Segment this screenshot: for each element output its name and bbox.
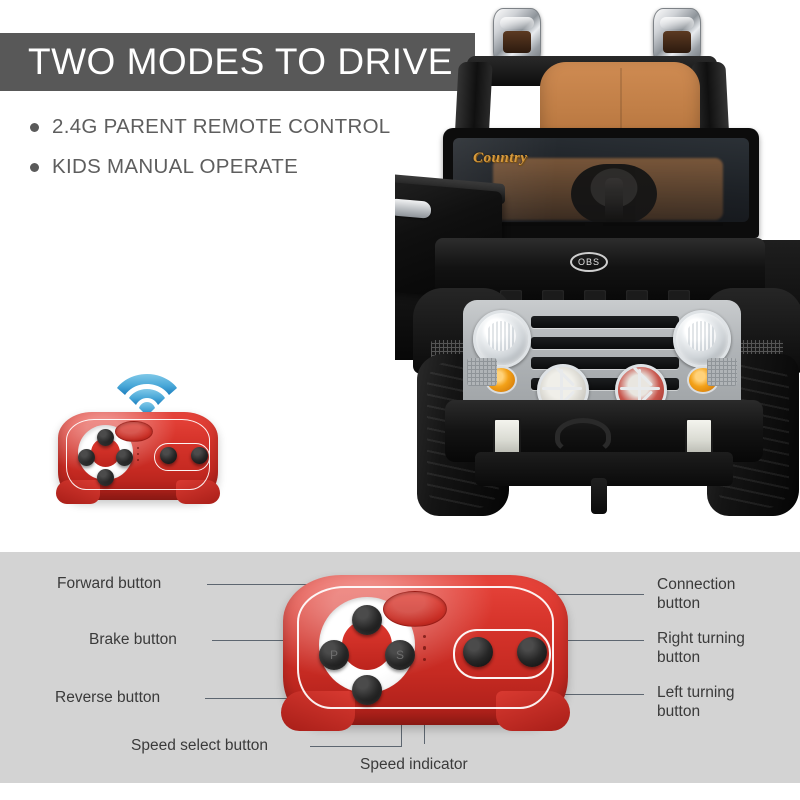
speed-indicator	[423, 635, 426, 669]
speed-indicator-dot	[423, 635, 426, 638]
left-turning-button[interactable]	[463, 637, 493, 667]
remote-control-diagram: P S	[283, 575, 568, 725]
forward-button[interactable]	[352, 605, 382, 635]
label-connection-button: Connection button	[657, 575, 735, 613]
door-handle-icon	[395, 198, 431, 219]
feature-list: 2.4G PARENT REMOTE CONTROL KIDS MANUAL O…	[30, 115, 450, 195]
hitch	[591, 478, 607, 514]
bullet-dot-icon	[30, 163, 39, 172]
vehicle-photo: Country OBS	[395, 0, 800, 540]
connection-button[interactable]	[383, 591, 447, 627]
speed-indicator-dot	[423, 646, 426, 649]
tow-hook-icon	[555, 418, 611, 454]
brake-button[interactable]	[78, 449, 95, 466]
grille-mesh-right	[707, 358, 737, 386]
label-reverse-button: Reverse button	[55, 688, 160, 707]
label-forward-button: Forward button	[57, 574, 161, 593]
reverse-button[interactable]	[97, 469, 114, 486]
label-speed-indicator: Speed indicator	[360, 755, 468, 774]
right-turning-button[interactable]	[191, 447, 208, 464]
infographic-page: TWO MODES TO DRIVE 2.4G PARENT REMOTE CO…	[0, 0, 800, 800]
label-brake-button: Brake button	[89, 630, 177, 649]
grille-mesh-left	[467, 358, 497, 386]
wifi-signal-icon	[116, 366, 178, 418]
windshield-badge: Country	[473, 150, 527, 167]
bullet-dot-icon	[30, 123, 39, 132]
speed-select-button[interactable]: S	[385, 640, 415, 670]
brake-button[interactable]: P	[319, 640, 349, 670]
roof-light-lens	[663, 31, 691, 53]
label-left-turning-button: Left turning button	[657, 683, 735, 721]
speed-indicator-dot	[137, 459, 139, 461]
remote-control-small	[58, 412, 218, 500]
grille-slot	[531, 316, 679, 328]
speed-indicator-dot	[423, 658, 426, 661]
callout-diagram: P S Forward button Brake button Reverse …	[0, 552, 800, 783]
page-title: TWO MODES TO DRIVE	[0, 41, 453, 83]
speed-indicator-dot	[137, 447, 139, 449]
reverse-button[interactable]	[352, 675, 382, 705]
bumper-light-left-icon	[493, 418, 521, 456]
list-item: KIDS MANUAL OPERATE	[30, 155, 450, 179]
speed-indicator	[137, 447, 139, 465]
bumper-light-right-icon	[685, 418, 713, 456]
feature-label: 2.4G PARENT REMOTE CONTROL	[52, 115, 391, 139]
leader-line-speed-select	[310, 746, 402, 747]
feature-label: KIDS MANUAL OPERATE	[52, 155, 298, 179]
connection-button[interactable]	[115, 421, 153, 442]
speed-indicator-dot	[137, 453, 139, 455]
left-turning-button[interactable]	[160, 447, 177, 464]
front-grille-panel	[463, 300, 741, 416]
wiper-right-icon	[603, 223, 723, 226]
label-speed-select-button: Speed select button	[131, 736, 268, 755]
forward-button[interactable]	[97, 429, 114, 446]
label-right-turning-button: Right turning button	[657, 629, 745, 667]
right-turning-button[interactable]	[517, 637, 547, 667]
speed-select-button[interactable]	[116, 449, 133, 466]
roof-light-lens	[503, 31, 531, 53]
hood-badge: OBS	[570, 252, 608, 272]
list-item: 2.4G PARENT REMOTE CONTROL	[30, 115, 450, 139]
grille-slot	[531, 337, 679, 349]
